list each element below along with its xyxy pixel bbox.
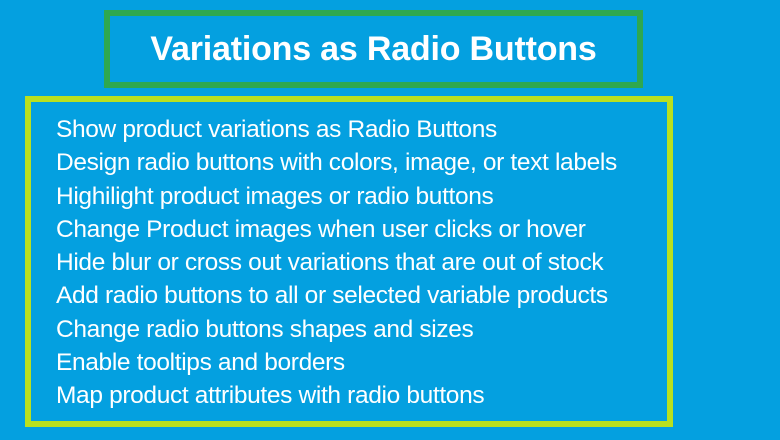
page-title: Variations as Radio Buttons <box>150 32 596 66</box>
list-item: Hide blur or cross out variations that a… <box>56 246 667 279</box>
list-item: Map product attributes with radio button… <box>56 379 667 412</box>
feature-list: Show product variations as Radio Buttons… <box>56 113 667 413</box>
feature-list-box: Show product variations as Radio Buttons… <box>25 96 673 427</box>
title-box: Variations as Radio Buttons <box>104 10 643 88</box>
slide-canvas: Variations as Radio Buttons Show product… <box>0 0 780 440</box>
list-item: Highilight product images or radio butto… <box>56 180 667 213</box>
list-item: Design radio buttons with colors, image,… <box>56 146 667 179</box>
list-item: Change radio buttons shapes and sizes <box>56 313 667 346</box>
list-item: Enable tooltips and borders <box>56 346 667 379</box>
list-item: Change Product images when user clicks o… <box>56 213 667 246</box>
list-item: Show product variations as Radio Buttons <box>56 113 667 146</box>
list-item: Add radio buttons to all or selected var… <box>56 279 667 312</box>
